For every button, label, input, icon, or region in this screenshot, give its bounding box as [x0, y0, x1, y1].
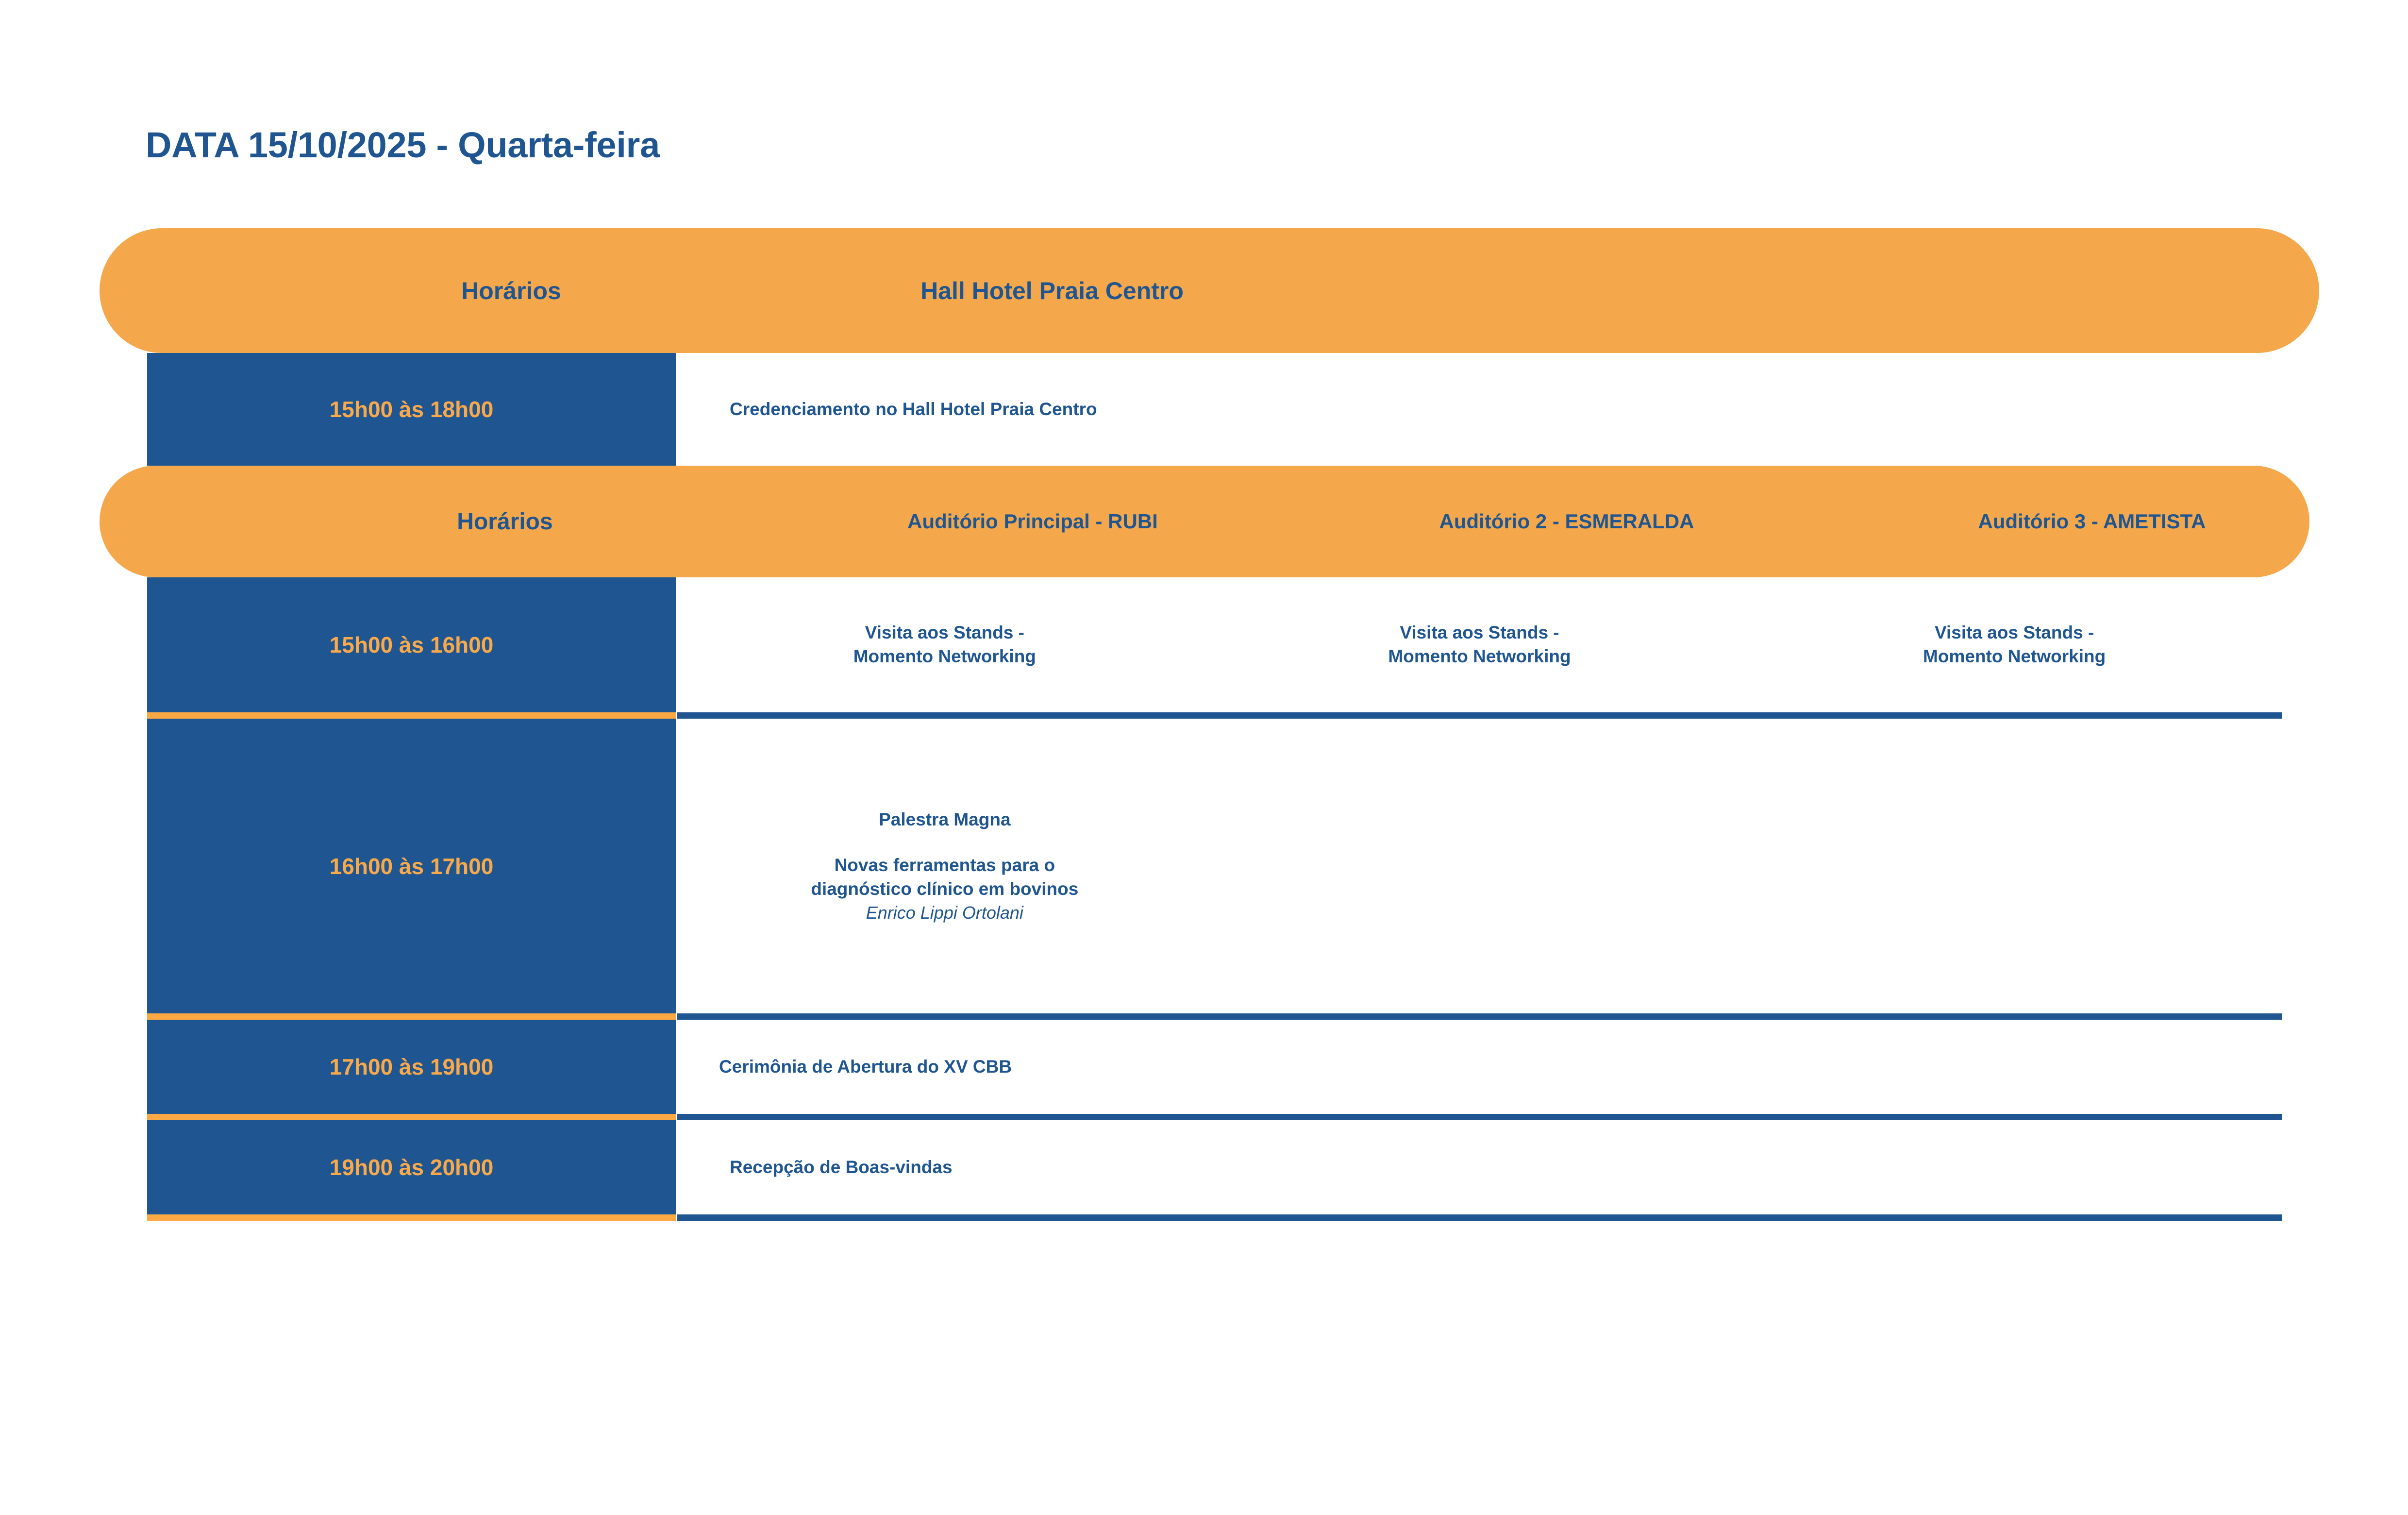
- time-slot-cerimonia: 17h00 às 19h00: [147, 1020, 676, 1114]
- row-separator-time-4: [147, 1214, 676, 1221]
- content-networking: Visita aos Stands - Momento Networking V…: [677, 577, 2282, 712]
- time-slot-credenciamento: 15h00 às 18h00: [147, 353, 676, 466]
- row-separator-content-1: [677, 712, 2282, 719]
- activity-line-1-networking-esmeralda: Visita aos Stands -: [1400, 621, 1559, 645]
- activity-cell-palestra-rubi: Palestra Magna Novas ferramentas para o …: [677, 719, 1212, 1013]
- header-auditorio-esmeralda: Auditório 2 - ESMERALDA: [1439, 510, 1694, 533]
- palestra-title-line-2: diagnóstico clínico em bovinos: [811, 877, 1078, 901]
- activity-cell-networking-ametista: Visita aos Stands - Momento Networking: [1747, 577, 2282, 712]
- header-auditorio-ametista: Auditório 3 - AMETISTA: [1978, 510, 2206, 533]
- content-palestra: Palestra Magna Novas ferramentas para o …: [677, 719, 2282, 1013]
- time-slot-palestra: 16h00 às 17h00: [147, 719, 676, 1013]
- activity-line-1-networking-rubi: Visita aos Stands -: [865, 621, 1024, 645]
- row-separator-content-3: [677, 1114, 2282, 1120]
- content-credenciamento: Credenciamento no Hall Hotel Praia Centr…: [677, 353, 2282, 466]
- content-recepcao: Recepção de Boas-vindas: [677, 1120, 2282, 1214]
- activity-cell-cerimonia: Cerimônia de Abertura do XV CBB: [677, 1020, 2282, 1114]
- activity-label-recepcao: Recepção de Boas-vindas: [730, 1156, 953, 1179]
- row-separator-time-3: [147, 1114, 676, 1120]
- activity-line-2-networking-ametista: Momento Networking: [1923, 645, 2106, 669]
- activity-cell-networking-rubi: Visita aos Stands - Momento Networking: [677, 577, 1212, 712]
- table-row-networking: 15h00 às 16h00 Visita aos Stands - Momen…: [147, 577, 2282, 712]
- palestra-title-line-1: Novas ferramentas para o: [835, 854, 1055, 877]
- activity-cell-networking-esmeralda: Visita aos Stands - Momento Networking: [1212, 577, 1747, 712]
- row-separator-time-2: [147, 1013, 676, 1020]
- schedule-page: DATA 15/10/2025 - Quarta-feira Horários …: [0, 0, 2408, 1515]
- header-horarios-hall: Horários: [461, 277, 561, 305]
- header-band-auditorios: Horários Auditório Principal - RUBI Audi…: [100, 466, 2309, 577]
- row-separator-time-1: [147, 712, 676, 719]
- page-title: DATA 15/10/2025 - Quarta-feira: [146, 124, 660, 166]
- table-row-palestra-magna: 16h00 às 17h00 Palestra Magna Novas ferr…: [147, 719, 2282, 1013]
- row-separator-content-2: [677, 1013, 2282, 1020]
- activity-line-1-networking-ametista: Visita aos Stands -: [1935, 621, 2094, 645]
- palestra-speaker-name: Enrico Lippi Ortolani: [866, 901, 1023, 925]
- activity-cell-palestra-esmeralda: [1212, 719, 1747, 1013]
- activity-line-2-networking-rubi: Momento Networking: [853, 645, 1036, 669]
- palestra-kind-label: Palestra Magna: [879, 808, 1010, 832]
- activity-label-credenciamento: Credenciamento no Hall Hotel Praia Centr…: [730, 398, 1097, 421]
- time-slot-recepcao: 19h00 às 20h00: [147, 1120, 676, 1214]
- table-row-cerimonia: 17h00 às 19h00 Cerimônia de Abertura do …: [147, 1020, 2282, 1114]
- activity-cell-recepcao: Recepção de Boas-vindas: [677, 1120, 2282, 1214]
- table-row-recepcao: 19h00 às 20h00 Recepção de Boas-vindas: [147, 1120, 2282, 1214]
- activity-cell-credenciamento: Credenciamento no Hall Hotel Praia Centr…: [677, 353, 2282, 466]
- activity-label-cerimonia: Cerimônia de Abertura do XV CBB: [719, 1055, 1012, 1079]
- activity-line-2-networking-esmeralda: Momento Networking: [1388, 645, 1571, 669]
- header-auditorio-rubi: Auditório Principal - RUBI: [907, 510, 1158, 533]
- time-slot-networking: 15h00 às 16h00: [147, 577, 676, 712]
- header-band-hall: Horários Hall Hotel Praia Centro: [100, 228, 2319, 353]
- header-horarios-auditorios: Horários: [457, 508, 552, 535]
- table-row-credenciamento: 15h00 às 18h00 Credenciamento no Hall Ho…: [147, 353, 2282, 466]
- activity-cell-palestra-ametista: [1747, 719, 2282, 1013]
- row-separator-content-4: [677, 1214, 2282, 1221]
- header-venue-hall: Hall Hotel Praia Centro: [920, 277, 1184, 305]
- content-cerimonia: Cerimônia de Abertura do XV CBB: [677, 1020, 2282, 1114]
